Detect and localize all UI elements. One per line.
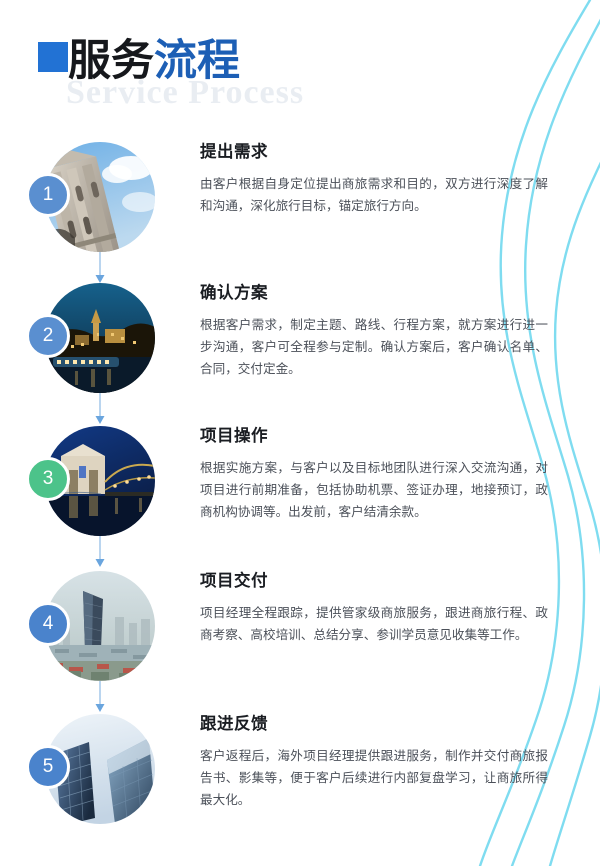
step-text: 项目交付 项目经理全程跟踪，提供管家级商旅服务，跟进商旅行程、政商考察、高校培训… <box>200 561 600 646</box>
process-step: 3 项目操作 根据实施方案，与客户以及目标地团队进行深入交流沟通，对项目进行前期… <box>0 416 600 561</box>
step-number: 5 <box>43 756 54 778</box>
step-number: 2 <box>43 325 54 347</box>
step-number-badge: 1 <box>26 173 70 217</box>
step-description: 项目经理全程跟踪，提供管家级商旅服务，跟进商旅行程、政商考察、高校培训、总结分享… <box>200 602 548 646</box>
step-number-badge: 4 <box>26 602 70 646</box>
step-visual: 1 <box>0 132 200 252</box>
step-title: 项目交付 <box>200 567 548 591</box>
page-title: 服务流程 <box>68 36 240 86</box>
process-step: 2 确认方案 根据客户需求，制定主题、路线、行程方案，就方案进行进一步沟通，客户… <box>0 273 600 416</box>
step-title: 确认方案 <box>200 279 548 303</box>
step-visual: 4 <box>0 561 200 681</box>
step-text: 跟进反馈 客户返程后，海外项目经理提供跟进服务，制作并交付商旅报告书、影集等，便… <box>200 704 600 811</box>
step-connector-arrow <box>93 681 107 715</box>
page-title-primary: 服务 <box>68 36 154 86</box>
step-visual: 2 <box>0 273 200 393</box>
step-description: 根据客户需求，制定主题、路线、行程方案，就方案进行进一步沟通，客户可全程参与定制… <box>200 314 548 380</box>
process-step: 1 提出需求 由客户根据自身定位提出商旅需求和目的，双方进行深度了解和沟通，深化… <box>0 132 600 273</box>
step-description: 根据实施方案，与客户以及目标地团队进行深入交流沟通，对项目进行前期准备，包括协助… <box>200 457 548 523</box>
page-title-accent: 流程 <box>154 36 240 86</box>
step-connector-arrow <box>93 536 107 570</box>
step-number: 1 <box>43 184 54 206</box>
process-step: 4 项目交付 项目经理全程跟踪，提供管家级商旅服务，跟进商旅行程、政商考察、高校… <box>0 561 600 704</box>
title-accent-square <box>38 42 68 72</box>
step-description: 由客户根据自身定位提出商旅需求和目的，双方进行深度了解和沟通，深化旅行目标，锚定… <box>200 173 548 217</box>
step-title: 项目操作 <box>200 422 548 446</box>
step-connector-arrow <box>93 393 107 427</box>
step-visual: 3 <box>0 416 200 536</box>
step-description: 客户返程后，海外项目经理提供跟进服务，制作并交付商旅报告书、影集等，便于客户后续… <box>200 745 548 811</box>
step-number-badge: 5 <box>26 745 70 789</box>
step-text: 提出需求 由客户根据自身定位提出商旅需求和目的，双方进行深度了解和沟通，深化旅行… <box>200 132 600 217</box>
step-text: 确认方案 根据客户需求，制定主题、路线、行程方案，就方案进行进一步沟通，客户可全… <box>200 273 600 380</box>
step-connector-arrow <box>93 252 107 286</box>
process-step-list: 1 提出需求 由客户根据自身定位提出商旅需求和目的，双方进行深度了解和沟通，深化… <box>0 132 600 824</box>
process-step: 5 跟进反馈 客户返程后，海外项目经理提供跟进服务，制作并交付商旅报告书、影集等… <box>0 704 600 824</box>
step-text: 项目操作 根据实施方案，与客户以及目标地团队进行深入交流沟通，对项目进行前期准备… <box>200 416 600 523</box>
step-number: 4 <box>43 613 54 635</box>
step-title: 提出需求 <box>200 138 548 162</box>
step-number-badge: 3 <box>26 457 70 501</box>
step-number: 3 <box>43 468 54 490</box>
step-number-badge: 2 <box>26 314 70 358</box>
step-visual: 5 <box>0 704 200 824</box>
step-title: 跟进反馈 <box>200 710 548 734</box>
